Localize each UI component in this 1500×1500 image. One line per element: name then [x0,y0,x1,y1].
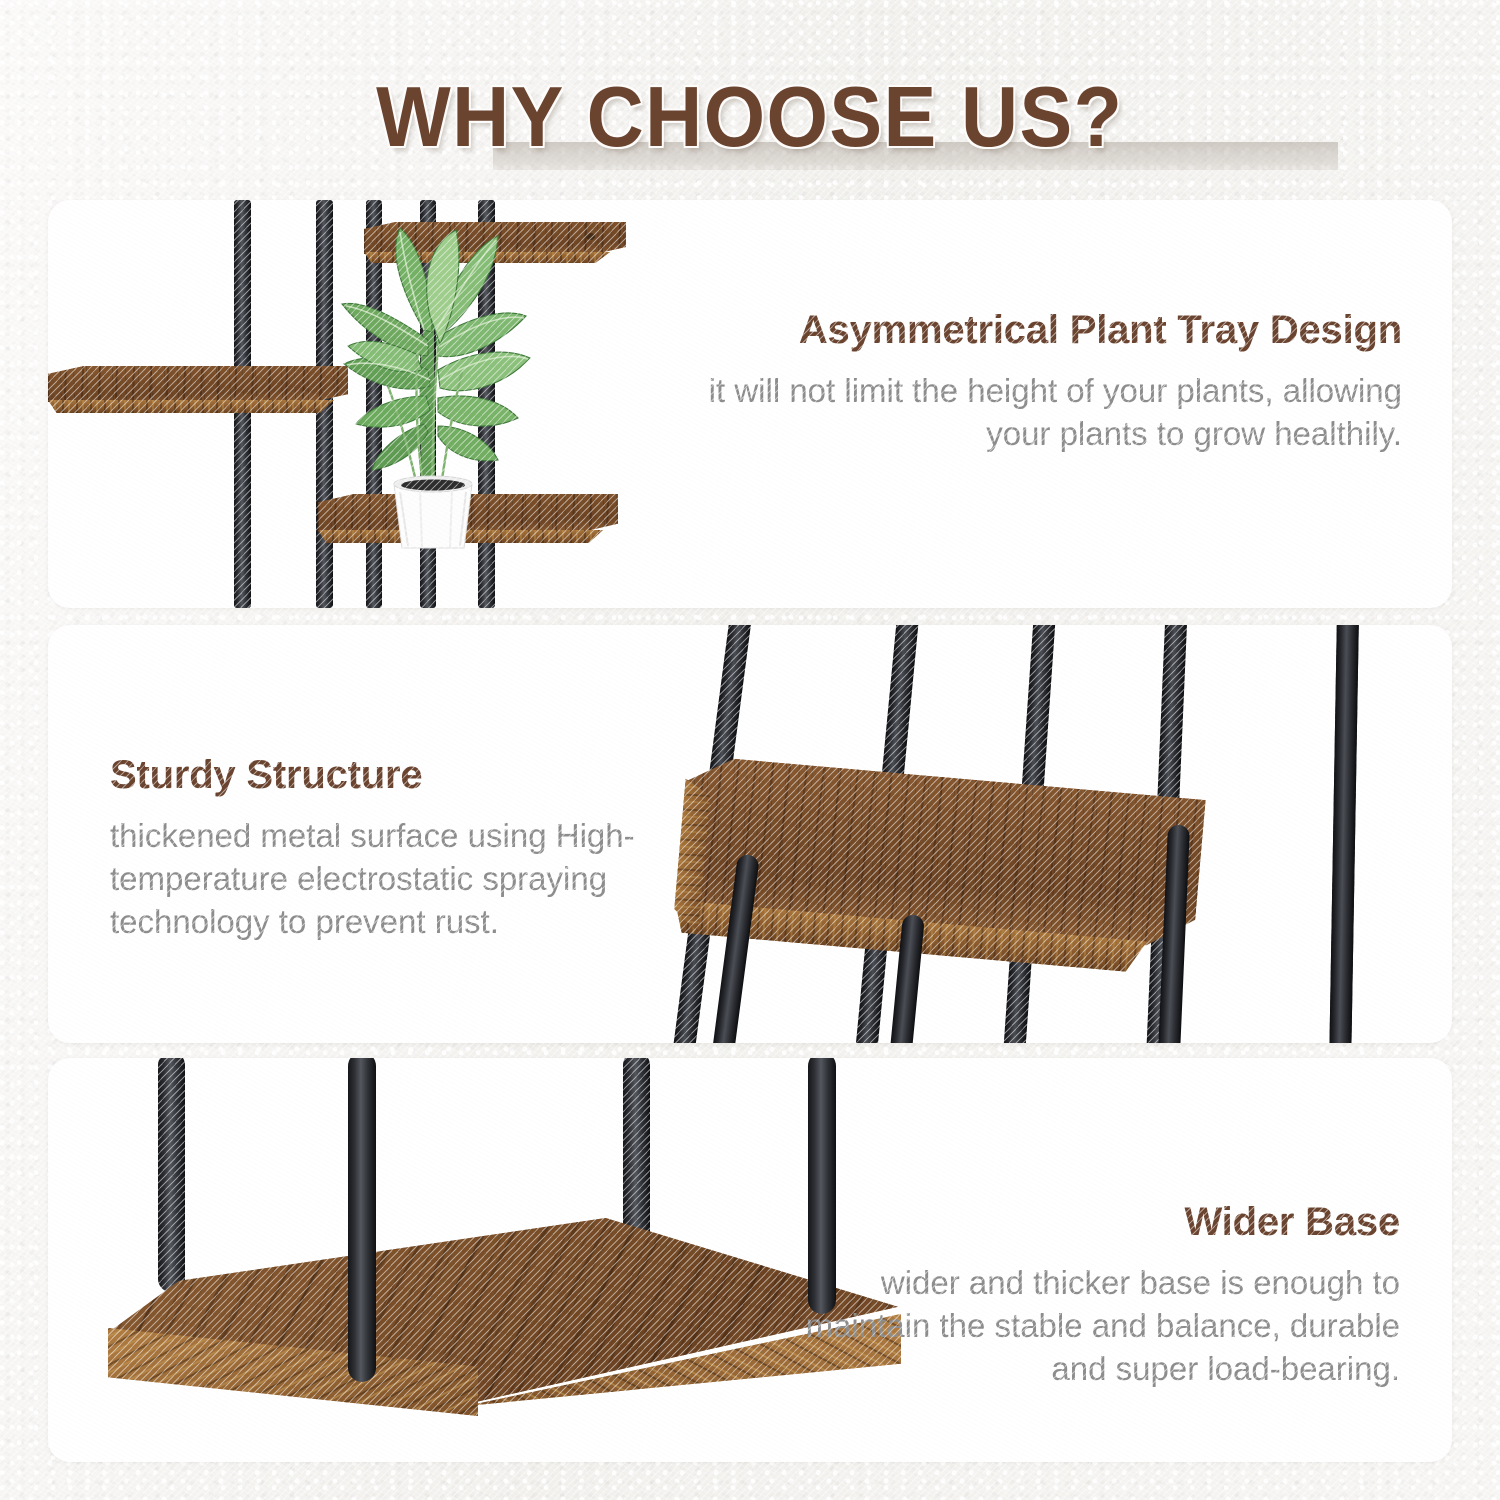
feature-2-text: Sturdy Structure thickened metal surface… [110,753,730,944]
feature-3-body: wider and thicker base is enough to main… [780,1261,1400,1391]
plant-stand-image [48,200,668,608]
plant-pot [394,476,472,548]
feature-1-heading: Asymmetrical Plant Tray Design [702,308,1402,353]
page-title-area: WHY CHOOSE US? [0,62,1500,172]
feature-1-text: Asymmetrical Plant Tray Design it will n… [702,308,1402,455]
feature-1-body: it will not limit the height of your pla… [702,369,1402,455]
feature-card-sturdy-structure: Sturdy Structure thickened metal surface… [48,625,1452,1043]
base-pole-front-right [808,1058,836,1314]
potted-plant [248,220,608,550]
wider-base-image [48,1058,888,1462]
feature-card-wider-base: Wider Base wider and thicker base is eno… [48,1058,1452,1462]
shelf-closeup-image [648,625,1452,1043]
base-pole-front-left [348,1058,376,1382]
feature-3-heading: Wider Base [780,1200,1400,1245]
feature-3-text: Wider Base wider and thicker base is eno… [780,1200,1400,1391]
page-title: WHY CHOOSE US? [376,75,1123,160]
feature-2-heading: Sturdy Structure [110,753,730,798]
closeup-pole-front-right [1328,625,1360,1043]
feature-card-asymmetrical-plant-tray: Asymmetrical Plant Tray Design it will n… [48,200,1452,608]
infographic-page: WHY CHOOSE US? [0,0,1500,1500]
feature-2-body: thickened metal surface using High-tempe… [110,814,730,944]
